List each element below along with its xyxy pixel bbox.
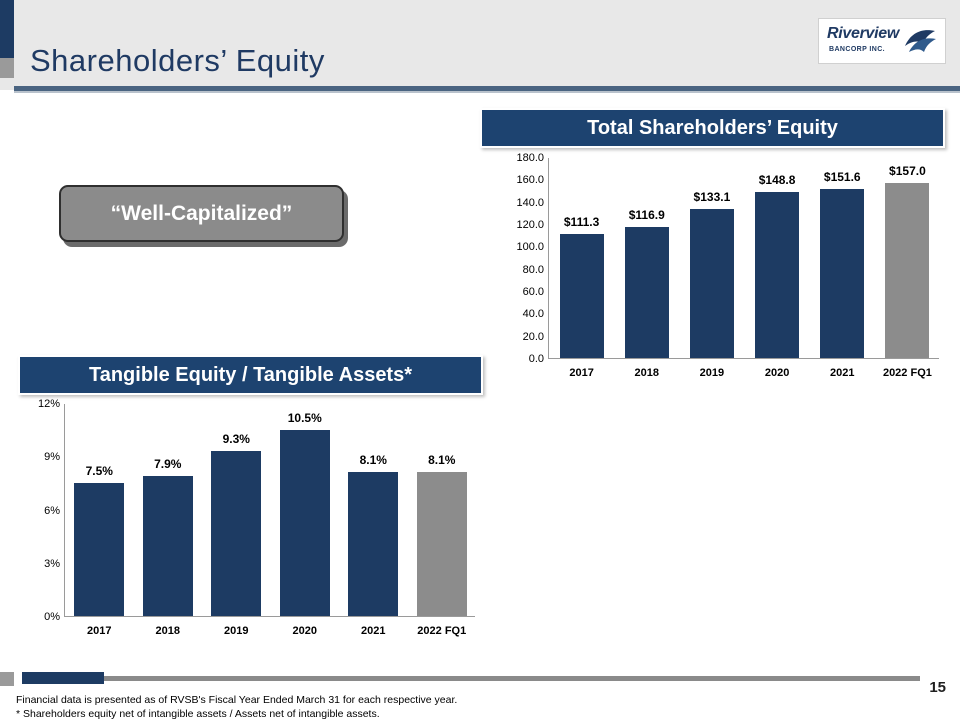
bird-icon: [903, 26, 939, 58]
y-axis-tick-label: 12%: [38, 398, 65, 410]
bar-value-label: 7.9%: [154, 457, 181, 471]
footer-accent-navy: [22, 672, 104, 684]
x-axis-tick-label: 2020: [765, 367, 789, 379]
logo-wordmark: Riverview: [827, 25, 899, 43]
bar-value-label: $157.0: [889, 164, 926, 178]
bar: [820, 189, 864, 358]
bar: [211, 451, 261, 616]
bar: [885, 183, 929, 358]
y-axis-tick-label: 100.0: [516, 241, 549, 253]
x-axis-tick-label: 2020: [293, 625, 317, 637]
footnote-primary: Financial data is presented as of RVSB's…: [16, 694, 457, 706]
y-axis-tick-label: 180.0: [516, 152, 549, 164]
y-axis-tick-label: 20.0: [523, 331, 549, 343]
riverview-logo: Riverview BANCORP INC.: [818, 18, 946, 64]
bar: [755, 192, 799, 358]
y-axis-tick-label: 60.0: [523, 286, 549, 298]
x-axis-tick-label: 2019: [224, 625, 248, 637]
y-axis-tick-label: 6%: [44, 505, 65, 517]
footer-divider: [104, 676, 920, 681]
bar-value-label: 10.5%: [288, 411, 322, 425]
logo-subtitle: BANCORP INC.: [829, 46, 885, 53]
y-axis-tick-label: 0.0: [529, 353, 549, 365]
y-axis-tick-label: 80.0: [523, 264, 549, 276]
bar-value-label: $151.6: [824, 170, 861, 184]
plot-area: 0.020.040.060.080.0100.0120.0140.0160.01…: [548, 158, 939, 359]
x-axis-tick-label: 2018: [635, 367, 659, 379]
y-axis-tick-label: 140.0: [516, 197, 549, 209]
header-accent-gray: [0, 58, 14, 78]
y-axis-tick-label: 40.0: [523, 308, 549, 320]
bar: [280, 430, 330, 616]
chart-tangible-equity: 0%3%6%9%12%7.5%20177.9%20189.3%201910.5%…: [8, 398, 488, 646]
banner-tangible-equity: Tangible Equity / Tangible Assets*: [18, 355, 483, 395]
x-axis-tick-label: 2017: [569, 367, 593, 379]
bar-value-label: $116.9: [629, 208, 665, 222]
bar: [625, 227, 669, 358]
bar-value-label: 7.5%: [86, 464, 113, 478]
bar: [348, 472, 398, 616]
callout-label: “Well-Capitalized”: [111, 202, 293, 226]
bar: [143, 476, 193, 616]
page-number: 15: [929, 679, 946, 696]
bar-value-label: 9.3%: [223, 432, 250, 446]
plot-area: 0%3%6%9%12%7.5%20177.9%20189.3%201910.5%…: [64, 404, 475, 617]
header-divider-light: [14, 91, 960, 93]
x-axis-tick-label: 2021: [361, 625, 385, 637]
footnote-secondary: * Shareholders equity net of intangible …: [16, 708, 380, 720]
y-axis-tick-label: 3%: [44, 558, 65, 570]
y-axis-tick-label: 9%: [44, 451, 65, 463]
x-axis-tick-label: 2022 FQ1: [883, 367, 932, 379]
bar: [560, 234, 604, 358]
x-axis-tick-label: 2017: [87, 625, 111, 637]
banner-label: Tangible Equity / Tangible Assets*: [89, 364, 412, 387]
well-capitalized-callout: “Well-Capitalized”: [59, 185, 344, 242]
y-axis-tick-label: 160.0: [516, 174, 549, 186]
bar-value-label: 8.1%: [428, 453, 455, 467]
footer-accent-gray: [0, 672, 14, 686]
y-axis-tick-label: 120.0: [516, 219, 549, 231]
bar-value-label: $133.1: [694, 190, 731, 204]
x-axis-tick-label: 2019: [700, 367, 724, 379]
y-axis-tick-label: 0%: [44, 611, 65, 623]
banner-label: Total Shareholders’ Equity: [587, 117, 838, 140]
bar: [74, 483, 124, 616]
bar-value-label: $111.3: [564, 215, 599, 229]
x-axis-tick-label: 2018: [156, 625, 180, 637]
x-axis-tick-label: 2021: [830, 367, 854, 379]
banner-total-shareholders-equity: Total Shareholders’ Equity: [480, 108, 945, 148]
chart-total-shareholders-equity: 0.020.040.060.080.0100.0120.0140.0160.01…: [492, 152, 947, 390]
bar-value-label: $148.8: [759, 173, 796, 187]
page-title: Shareholders’ Equity: [30, 43, 325, 79]
bar: [690, 209, 734, 358]
header-accent-navy: [0, 0, 14, 58]
bar-value-label: 8.1%: [360, 453, 387, 467]
x-axis-tick-label: 2022 FQ1: [417, 625, 466, 637]
bar: [417, 472, 467, 616]
